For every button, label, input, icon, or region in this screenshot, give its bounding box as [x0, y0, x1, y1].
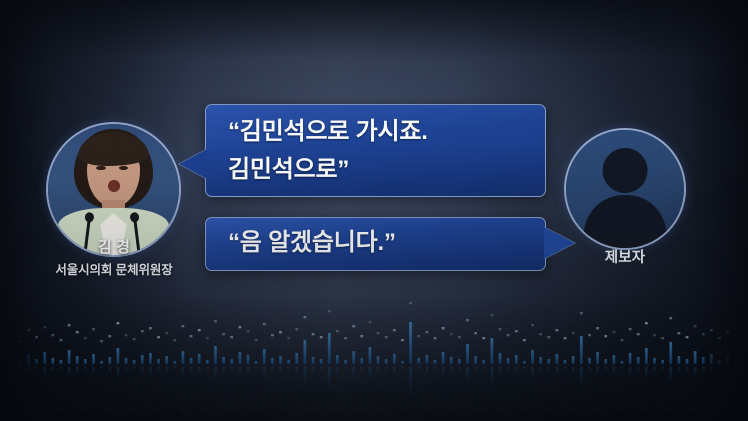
speech-bubble-1-text: “김민석으로 가시죠. 김민석으로” — [206, 105, 545, 189]
speaker-name-solid: 김 경 — [98, 238, 130, 258]
photo-eye-right — [119, 166, 128, 170]
photo-mouth — [108, 180, 120, 192]
speech-bubble-2-text: “음 알겠습니다.” — [206, 218, 545, 268]
speech-bubble-1-tail — [179, 149, 207, 179]
avatar-ring-speaker — [48, 124, 179, 255]
speaker-caption: 상 장 김 경 서울시의회 문체위원장 — [8, 238, 220, 278]
speaker-photo — [48, 124, 179, 255]
avatar-speaker — [48, 124, 179, 255]
silhouette-head — [603, 148, 648, 193]
audio-waveform — [0, 292, 748, 421]
broadcast-graphic-stage: 상 장 김 경 서울시의회 문체위원장 제보자 “김민석으로 가시죠. 김민석으… — [0, 0, 748, 421]
informant-label: 제보자 — [566, 248, 684, 268]
avatar-informant — [566, 130, 684, 248]
anonymous-person-icon — [566, 130, 684, 248]
speaker-name: 상 장 김 경 — [8, 238, 220, 258]
speech-bubble-2: “음 알겠습니다.” — [205, 217, 546, 271]
speaker-title: 서울시의회 문체위원장 — [8, 259, 220, 278]
speech-bubble-1: “김민석으로 가시죠. 김민석으로” — [205, 104, 546, 197]
silhouette-body — [584, 195, 667, 248]
photo-eye-left — [96, 166, 105, 170]
avatar-ring-informant — [566, 130, 684, 248]
speech-bubble-2-tail — [544, 227, 575, 259]
informant-caption: 제보자 — [566, 248, 684, 268]
